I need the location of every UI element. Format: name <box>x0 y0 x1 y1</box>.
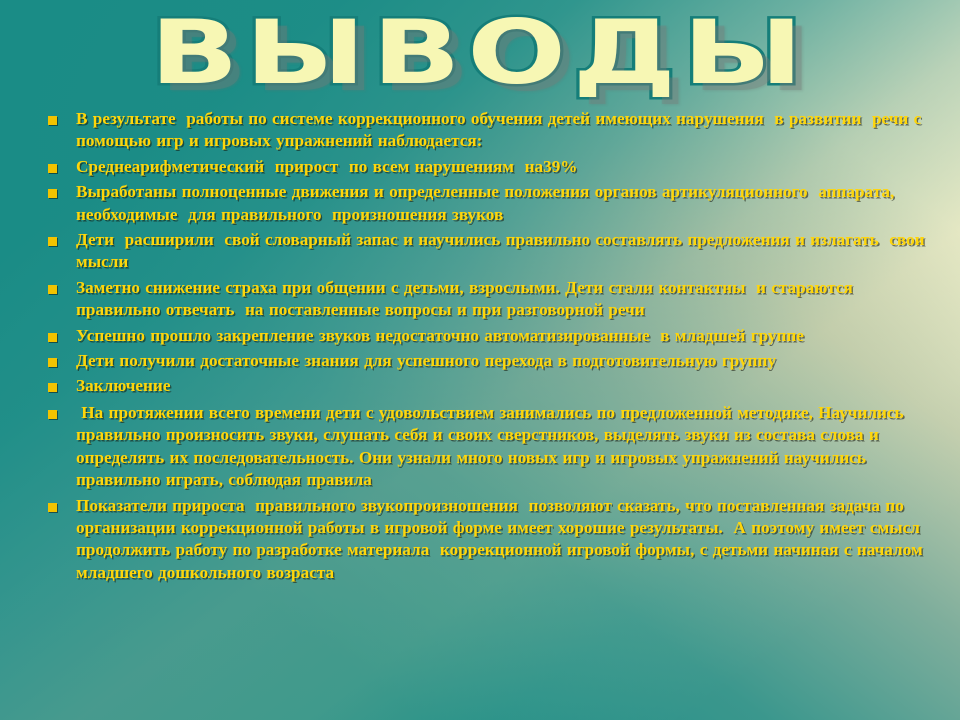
square-bullet-icon <box>48 164 57 173</box>
square-bullet-icon <box>48 383 57 392</box>
page-title: ВЫВОДЫ <box>150 7 810 99</box>
square-bullet-icon <box>48 237 57 246</box>
bullet-list: В результате работы по системе коррекцио… <box>0 108 960 587</box>
list-item-text: Дети получили достаточные знания для усп… <box>76 350 938 372</box>
list-item: Успешно прошло закрепление звуков недост… <box>0 325 960 347</box>
list-item-text: На протяжении всего времени дети с удово… <box>76 402 938 492</box>
list-item: Среднеарифметический прирост по всем нар… <box>0 156 960 178</box>
list-item: В результате работы по системе коррекцио… <box>0 108 960 153</box>
list-item-text: Заключение <box>76 375 938 397</box>
list-item: На протяжении всего времени дети с удово… <box>0 402 960 492</box>
presentation-slide: ВЫВОДЫ В результате работы по системе ко… <box>0 0 960 720</box>
list-item: Показатели прироста правильного звукопро… <box>0 495 960 585</box>
list-item-text: Показатели прироста правильного звукопро… <box>76 495 938 585</box>
list-item: Выработаны полноценные движения и опреде… <box>0 181 960 226</box>
list-item: Дети расширили свой словарный запас и на… <box>0 229 960 274</box>
list-item-text: Среднеарифметический прирост по всем нар… <box>76 156 938 178</box>
list-item: Заметно снижение страха при общении с де… <box>0 277 960 322</box>
list-item: Дети получили достаточные знания для усп… <box>0 350 960 372</box>
list-item-text: Заметно снижение страха при общении с де… <box>76 277 938 322</box>
square-bullet-icon <box>48 358 57 367</box>
square-bullet-icon <box>48 189 57 198</box>
slide-title-area: ВЫВОДЫ <box>0 4 960 102</box>
square-bullet-icon <box>48 285 57 294</box>
square-bullet-icon <box>48 410 57 419</box>
list-item-text: Дети расширили свой словарный запас и на… <box>76 229 938 274</box>
square-bullet-icon <box>48 503 57 512</box>
list-item-text: В результате работы по системе коррекцио… <box>76 108 938 153</box>
square-bullet-icon <box>48 333 57 342</box>
list-item-text: Успешно прошло закрепление звуков недост… <box>76 325 938 347</box>
list-item: Заключение <box>0 375 960 397</box>
square-bullet-icon <box>48 116 57 125</box>
list-item-text: Выработаны полноценные движения и опреде… <box>76 181 938 226</box>
